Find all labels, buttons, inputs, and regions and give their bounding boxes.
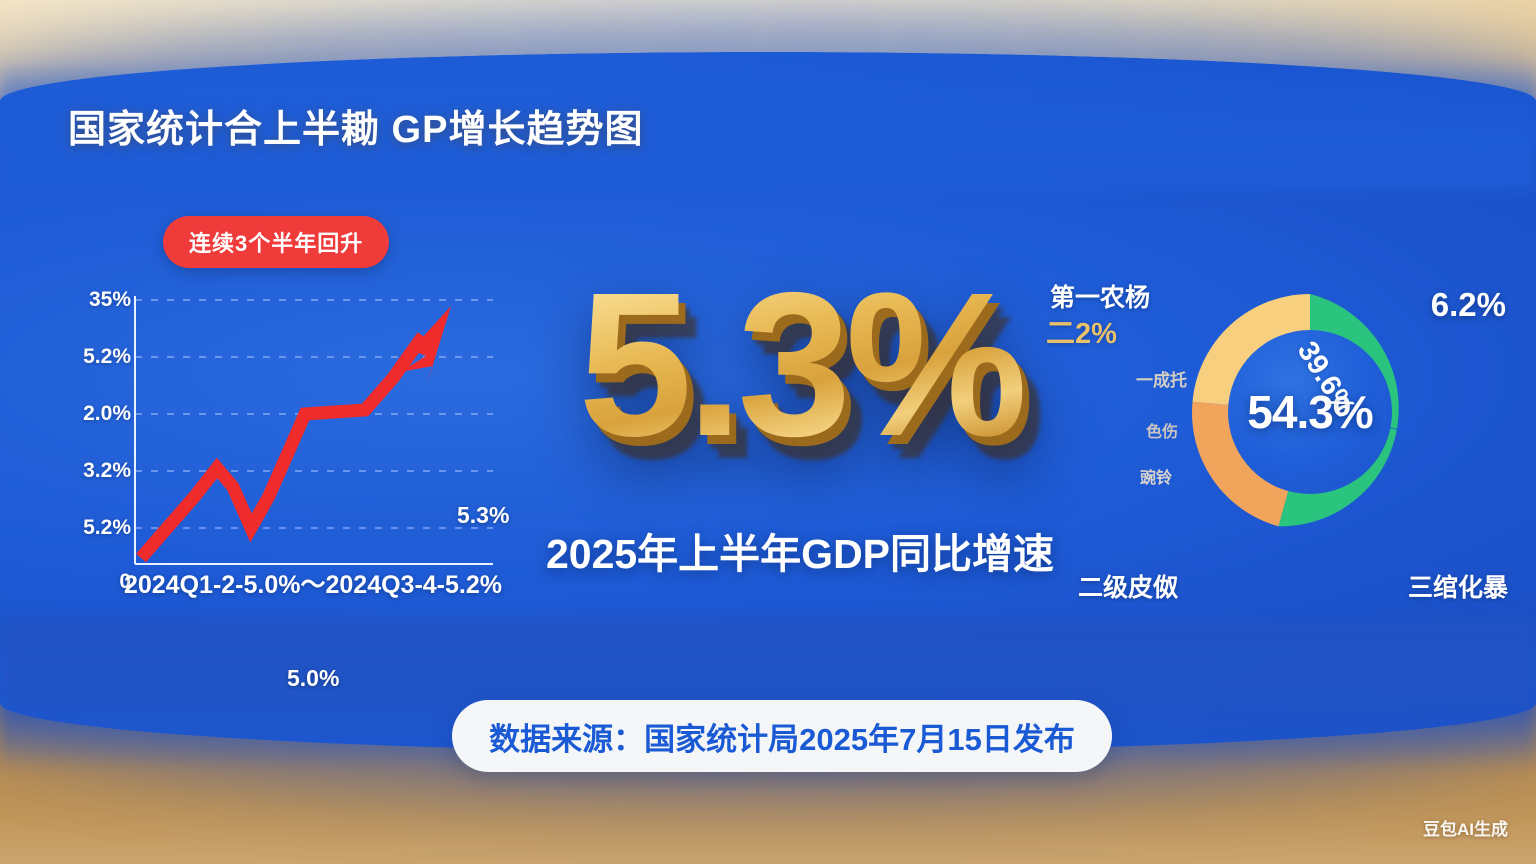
trend-arrowhead <box>400 306 451 384</box>
line-chart-svg <box>55 292 495 572</box>
x-axis-caption: 2024Q1-2-5.0%～2024Q3-4-5.2% <box>113 565 513 601</box>
donut-label-bottom-left: 二级皮伮 <box>1078 568 1178 604</box>
hero-subtitle: 2025年上半年GDP同比增速 <box>520 520 1080 580</box>
donut-inner-label-1: 一成托 <box>1136 366 1187 391</box>
trend-line <box>141 336 423 558</box>
infographic-canvas: 国家统计合上半耡 GP增长趋势图 连续3个半年回升 35% 5.2% 2.0% … <box>0 0 1536 864</box>
line-chart-plot-area <box>55 292 495 572</box>
point-label-end: 5.3% <box>457 502 509 529</box>
trend-badge: 连续3个半年回升 <box>163 216 389 268</box>
donut-label-bottom-right: 三绾化暴 <box>1408 568 1508 604</box>
hero-value: 5.3% <box>520 262 1080 467</box>
donut-label-top-right-pct: 6.2% <box>1431 286 1506 324</box>
point-label-mid: 5.0% <box>287 665 339 692</box>
data-source-pill: 数据来源：国家统计局2025年7月15日发布 <box>452 700 1112 772</box>
donut-chart: 54.3% 第一农杨 二2% 6.2% 39.6% 二级皮伮 三绾化暴 一成托 … <box>1040 278 1510 623</box>
page-title: 国家统计合上半耡 GP增长趋势图 <box>68 98 643 153</box>
watermark: 豆包AI生成 <box>1423 815 1508 840</box>
hero-figure: 5.3% 2025年上半年GDP同比增速 <box>520 262 1080 622</box>
donut-inner-label-3: 豌铃 <box>1140 464 1172 488</box>
data-source-text: 数据来源：国家统计局2025年7月15日发布 <box>489 714 1075 759</box>
line-chart: 连续3个半年回升 35% 5.2% 2.0% 3.2% 5.2% 0 <box>55 210 515 620</box>
donut-inner-label-2: 色伤 <box>1146 418 1178 442</box>
